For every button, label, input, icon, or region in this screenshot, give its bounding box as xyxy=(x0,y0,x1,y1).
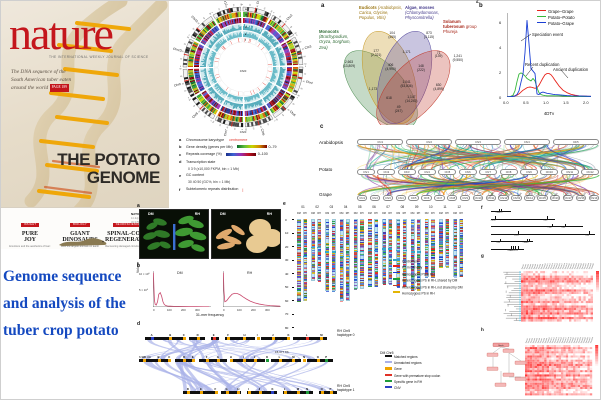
ideogram-marker xyxy=(297,301,300,302)
ideogram-marker xyxy=(368,257,371,258)
ideogram-marker xyxy=(460,271,463,272)
legend-scale: 0–79 xyxy=(269,145,277,149)
ideogram-marker xyxy=(304,253,307,254)
ideogram-marker xyxy=(397,283,400,284)
haplotype-legend-item: Matched regions xyxy=(385,355,418,359)
ideogram-chromosome-number: 04 xyxy=(340,205,352,209)
ideogram-tick-mark xyxy=(292,246,294,247)
kmer-y-tick: 5 × 10⁸ xyxy=(139,288,148,292)
haplotype-segment xyxy=(307,359,333,362)
svg-text:0: 0 xyxy=(273,120,275,122)
synteny-chromosome: Chr2 xyxy=(377,169,395,175)
centromere-marker xyxy=(403,250,407,251)
linkage-map-panel: f Chr08Chr02Chr03Chr04Chr05Chr06Chr07Chr… xyxy=(481,197,601,255)
ideogram-marker xyxy=(368,253,371,254)
ideogram-marker xyxy=(312,242,315,243)
svg-text:60: 60 xyxy=(264,7,267,10)
haplotype-gene-label: K xyxy=(266,355,268,359)
ideogram-marker xyxy=(360,224,363,225)
synteny-links xyxy=(317,123,601,205)
ideogram-marker xyxy=(375,257,378,258)
dtv-x-tick: 1.0 xyxy=(543,100,549,105)
ideogram-marker xyxy=(360,226,363,227)
ideogram-marker xyxy=(304,300,307,301)
ideogram-marker xyxy=(304,293,307,294)
ideogram-marker xyxy=(346,276,349,277)
synteny-chromosome: Chr1 xyxy=(357,139,403,145)
haplotype-gene-label: J xyxy=(259,387,261,391)
svg-text:Chr2: Chr2 xyxy=(286,13,294,21)
legend-label: CNV xyxy=(394,386,401,390)
ideogram-marker xyxy=(312,244,315,245)
haplotype-gene-label: D xyxy=(197,333,199,337)
ideogram-marker xyxy=(312,259,315,260)
ideogram-marker xyxy=(297,295,300,296)
kmer-x-tick: 300 xyxy=(195,308,200,312)
ideogram-tick-mark xyxy=(292,287,294,288)
ideogram-sub-label-rh: RH xyxy=(360,212,363,215)
ideogram-marker xyxy=(340,220,343,221)
ideogram-marker xyxy=(439,242,442,243)
svg-text:Chr5: Chr5 xyxy=(289,110,297,118)
centromere-marker xyxy=(453,245,457,246)
svg-text:60: 60 xyxy=(202,17,205,20)
ideogram-marker xyxy=(304,272,307,273)
ideogram-marker xyxy=(460,251,463,252)
ideogram-marker xyxy=(318,258,321,259)
svg-text:20: 20 xyxy=(192,28,195,31)
ideogram-marker xyxy=(454,270,457,271)
centromere-marker xyxy=(459,245,463,246)
legend-text: GC content xyxy=(186,173,204,177)
ideogram-marker xyxy=(318,273,321,274)
linkage-marker-label: Chr12 xyxy=(491,220,496,222)
ideogram-marker xyxy=(446,228,449,229)
ideogram-marker xyxy=(304,297,307,298)
ideogram-marker xyxy=(332,233,335,234)
linkage-marker xyxy=(501,209,502,212)
haplotype-gene xyxy=(321,391,324,394)
legend-key: c xyxy=(179,152,184,157)
svg-text:0: 0 xyxy=(180,66,181,68)
ideogram-marker xyxy=(411,249,414,250)
ideogram-marker xyxy=(297,228,300,229)
ideogram-marker xyxy=(403,247,406,248)
ideogram-marker xyxy=(354,243,357,244)
ideogram-marker xyxy=(297,260,300,261)
ideogram-marker xyxy=(368,231,371,232)
ideogram-marker xyxy=(318,276,321,277)
ideogram-marker xyxy=(346,232,349,233)
ideogram-marker xyxy=(403,230,406,231)
ideogram-marker xyxy=(446,222,449,223)
haplotype-gene-label: K xyxy=(271,387,273,391)
cover-headline-line1: THE POTATO xyxy=(40,151,160,169)
linkage-marker xyxy=(513,246,514,249)
legend-label: Specific gene in RH xyxy=(394,380,422,384)
synteny-chromosome: Chr3 xyxy=(398,169,416,175)
ideogram-marker xyxy=(425,229,428,230)
ideogram-marker xyxy=(368,223,371,224)
ideogram-marker xyxy=(318,278,321,279)
ideogram-marker xyxy=(411,250,414,251)
ideogram-marker xyxy=(354,272,357,273)
ideogram-marker xyxy=(297,222,300,223)
ideogram-marker xyxy=(297,257,300,258)
haplotype-gene-label: H xyxy=(230,355,232,359)
ideogram-marker xyxy=(368,228,371,229)
svg-text:20: 20 xyxy=(204,116,207,119)
svg-text:Chr4: Chr4 xyxy=(305,80,313,86)
ideogram-marker xyxy=(375,259,378,260)
haplotype-gene xyxy=(292,359,295,362)
haplotype-gene xyxy=(168,359,171,362)
ideogram-marker xyxy=(354,282,357,283)
ideogram-marker xyxy=(389,281,392,282)
ideogram-marker xyxy=(403,232,406,233)
ideogram-marker xyxy=(326,267,329,268)
ideogram-marker xyxy=(383,270,386,271)
ideogram-marker xyxy=(354,277,357,278)
ideogram-marker xyxy=(340,262,343,263)
ideogram-marker xyxy=(304,276,307,277)
synteny-chromosome: Chr6 xyxy=(459,169,477,175)
svg-text:0: 0 xyxy=(296,97,298,99)
haplotype-gene xyxy=(143,359,146,362)
ideogram-marker xyxy=(460,260,463,261)
ideogram-marker xyxy=(383,268,386,269)
ideogram-marker xyxy=(360,280,363,281)
haplotype-gene xyxy=(279,359,282,362)
ideogram-marker xyxy=(460,241,463,242)
ideogram-marker xyxy=(332,289,335,290)
ideogram-marker xyxy=(454,258,457,259)
ideogram-marker xyxy=(383,257,386,258)
venn-group-monocots: Monocots (Brachypodium, Oryza, Sorghum, … xyxy=(319,29,359,50)
ideogram-legend-item: Homozygous PS in RH xyxy=(393,291,435,296)
ideogram-marker xyxy=(346,238,349,239)
ideogram-legend-item: PS in DM only xyxy=(393,265,422,270)
ideogram-marker xyxy=(297,293,300,294)
legend-text: Transcription state xyxy=(186,160,215,164)
ideogram-marker xyxy=(297,277,300,278)
linkage-marker xyxy=(565,224,566,227)
circos-legend: a Chromosome karyotype centromere b Gene… xyxy=(179,137,313,194)
ideogram-marker xyxy=(360,261,363,262)
ideogram-marker xyxy=(389,278,392,279)
ideogram-marker xyxy=(304,252,307,253)
ideogram-marker xyxy=(417,255,420,256)
ideogram-marker xyxy=(318,233,321,234)
ideogram-marker xyxy=(354,258,357,259)
ideogram-marker xyxy=(389,229,392,230)
ideogram-marker xyxy=(368,268,371,269)
ideogram-marker xyxy=(318,255,321,256)
ideogram-marker xyxy=(346,283,349,284)
ideogram-marker xyxy=(383,236,386,237)
ideogram-marker xyxy=(439,235,442,236)
ideogram-marker xyxy=(340,230,343,231)
photo-label-rh: RH xyxy=(195,212,200,216)
ideogram-marker xyxy=(304,280,307,281)
haplotype-gene-label: F xyxy=(215,387,217,391)
ideogram-marker xyxy=(326,271,329,272)
legend-label: Centromere xyxy=(402,260,419,264)
venn-count: 104(455) xyxy=(388,32,396,40)
ideogram-marker xyxy=(340,239,343,240)
legend-key: b xyxy=(179,144,184,149)
ideogram-marker xyxy=(431,269,434,270)
ideogram-marker xyxy=(340,295,343,296)
ideogram-marker xyxy=(312,267,315,268)
ideogram-y-tick: 20 xyxy=(285,245,288,249)
ideogram-marker xyxy=(375,254,378,255)
annotation-speciation-event: Speciation event xyxy=(532,32,563,37)
ideogram-marker xyxy=(346,252,349,253)
haplotype-gene xyxy=(243,359,246,362)
ideogram-marker xyxy=(332,249,335,250)
legend-label: Gene xyxy=(394,368,402,372)
ideogram-marker xyxy=(383,241,386,242)
ideogram-marker xyxy=(340,244,343,245)
haplotype-gene xyxy=(271,391,274,394)
haplotype-gene-label: D xyxy=(187,387,189,391)
ideogram-marker xyxy=(375,263,378,264)
ideogram-marker xyxy=(354,242,357,243)
legend-swatch-icon xyxy=(385,355,392,357)
venn-count: 2,663(13,809) xyxy=(343,62,355,70)
ideogram-marker xyxy=(360,230,363,231)
ideogram-marker xyxy=(326,280,329,281)
ideogram-marker xyxy=(318,243,321,244)
haplotype-gene-label: B xyxy=(158,355,160,359)
ideogram-marker xyxy=(304,246,307,247)
legend-row-d: d Transcription state xyxy=(179,159,313,164)
ideogram-marker xyxy=(403,224,406,225)
kmer-x-tick: 200 xyxy=(181,308,186,312)
linkage-marker xyxy=(495,216,496,219)
haplotype-gene xyxy=(183,359,186,362)
ideogram-marker xyxy=(297,289,300,290)
haplotype-gene xyxy=(227,337,230,340)
ideogram-marker xyxy=(454,221,457,222)
ideogram-marker xyxy=(326,275,329,276)
ideogram-marker xyxy=(346,291,349,292)
haplotype-gene xyxy=(197,337,200,340)
ideogram-marker xyxy=(460,255,463,256)
ideogram-marker xyxy=(332,271,335,272)
ideogram-marker xyxy=(318,235,321,236)
plant-photo-panel: a DM RH xyxy=(137,203,283,261)
ideogram-marker xyxy=(340,221,343,222)
ideogram-marker xyxy=(340,226,343,227)
photo-label-rh: RH xyxy=(267,212,272,216)
legend-text: Chromosome karyotype xyxy=(186,138,224,142)
haplotype-gene xyxy=(217,359,220,362)
haplotype-legend-item: CNV xyxy=(385,386,401,390)
ideogram-marker xyxy=(397,254,400,255)
ideogram-marker xyxy=(397,229,400,230)
ideogram-y-tick: 0 xyxy=(285,218,287,222)
ideogram-marker xyxy=(297,263,300,264)
haplotype-gene-label: O xyxy=(321,387,323,391)
ideogram-sub-label-dm: DM xyxy=(396,212,400,215)
ideogram-marker xyxy=(397,240,400,241)
synteny-chromosome: Chr3 xyxy=(455,139,501,145)
ideogram-marker xyxy=(354,253,357,254)
legend-text: Repeats coverage (%) xyxy=(186,152,222,156)
ideogram-marker xyxy=(297,248,300,249)
ideogram-sub-label-dm: DM xyxy=(425,212,429,215)
ideogram-marker xyxy=(375,235,378,236)
ideogram-sub-label-rh: RH xyxy=(388,212,391,215)
venn-count: 1,041(53,836) xyxy=(400,81,412,89)
haplotype-gene xyxy=(284,391,287,394)
ideogram-marker xyxy=(383,232,386,233)
ideogram-marker xyxy=(454,232,457,233)
ideogram-marker xyxy=(389,222,392,223)
ideogram-marker xyxy=(360,275,363,276)
ideogram-chromosome-number: 03 xyxy=(325,205,337,209)
ideogram-y-tick: 60 xyxy=(285,299,288,303)
haplotype-comparison-panel: d ABCDEFHIJKLMABCDEFGHIJKLMNOPDEFGHIJKLM… xyxy=(137,321,437,401)
haplotype-gene-label: I xyxy=(248,387,249,391)
ideogram-marker xyxy=(375,277,378,278)
ideogram-marker xyxy=(460,269,463,270)
kmer-x-tick: 0 xyxy=(153,308,155,312)
svg-text:Chr0: Chr0 xyxy=(240,69,247,73)
ideogram-marker xyxy=(304,264,307,265)
ideogram-sub-label-dm: DM xyxy=(354,212,358,215)
ideogram-marker xyxy=(346,225,349,226)
synteny-chromosome: Chr12 xyxy=(581,169,599,175)
haplotype-gene-label: P xyxy=(325,355,327,359)
ideogram-legend-item: Homozygous PS in RH xyxy=(393,272,435,277)
ideogram-marker xyxy=(340,245,343,246)
venn-count: 49(247) xyxy=(395,106,403,114)
ideogram-marker xyxy=(368,260,371,261)
haplotype-gene-label: C xyxy=(183,333,185,337)
haplotype-gene-label: O xyxy=(317,355,319,359)
ideogram-chromosome-number: 07 xyxy=(382,205,394,209)
ideogram-sub-label-dm: DM xyxy=(382,212,386,215)
ideogram-marker xyxy=(389,252,392,253)
svg-text:80: 80 xyxy=(186,36,189,39)
ideogram-marker xyxy=(368,284,371,285)
ideogram-marker xyxy=(417,235,420,236)
venn-count: 148(222) xyxy=(417,65,425,73)
ideogram-marker xyxy=(297,298,300,299)
ideogram-marker xyxy=(318,239,321,240)
ideogram-marker xyxy=(340,301,343,302)
ideogram-marker xyxy=(297,226,300,227)
ideogram-marker xyxy=(312,270,315,271)
ideogram-marker xyxy=(297,239,300,240)
ideogram-marker xyxy=(340,235,343,236)
legend-row-e: e GC content xyxy=(179,173,313,178)
haplotype-gene-label: E xyxy=(200,387,202,391)
ideogram-marker xyxy=(454,277,457,278)
ideogram-marker xyxy=(411,226,414,227)
ideogram-marker xyxy=(431,240,434,241)
ideogram-tick-mark xyxy=(292,233,294,234)
ideogram-marker xyxy=(326,244,329,245)
ideogram-marker xyxy=(360,268,363,269)
teaser-tag: BIOLOGY xyxy=(70,223,90,227)
legend-row-a: a Chromosome karyotype centromere xyxy=(179,137,313,142)
heatmap2-svg: Tissue1Tissue2Tissue3Tissue4Tissue5Tissu… xyxy=(481,327,601,401)
ideogram-marker xyxy=(297,230,300,231)
ideogram-marker xyxy=(318,224,321,225)
ideogram-marker xyxy=(297,290,300,291)
annotation-ancient-duplication: Ancient duplication xyxy=(553,67,588,72)
ideogram-marker xyxy=(446,232,449,233)
synteny-chromosome: Chr5 xyxy=(438,169,456,175)
haplotype-gene-label: N xyxy=(306,387,308,391)
ideogram-marker xyxy=(297,262,300,263)
dtv-x-tick: 2.0 xyxy=(583,100,589,105)
ideogram-marker xyxy=(446,267,449,268)
ideogram-marker xyxy=(431,258,434,259)
ideogram-marker xyxy=(375,232,378,233)
ideogram-marker xyxy=(360,235,363,236)
ideogram-marker xyxy=(304,235,307,236)
ideogram-marker xyxy=(375,267,378,268)
ideogram-marker xyxy=(389,234,392,235)
ideogram-marker xyxy=(397,232,400,233)
ideogram-sub-label-dm: DM xyxy=(411,212,415,215)
ideogram-sub-label-rh: RH xyxy=(459,212,462,215)
kmer-x-tick: 0 xyxy=(223,308,225,312)
dtv-x-axis-label: 4DTv xyxy=(507,111,591,116)
ideogram-marker xyxy=(439,248,442,249)
ideogram-marker xyxy=(312,257,315,258)
ideogram-marker xyxy=(326,285,329,286)
ideogram-marker xyxy=(411,253,414,254)
ideogram-marker xyxy=(403,255,406,256)
synteny-chromosome: Chr7 xyxy=(479,169,497,175)
ideogram-marker xyxy=(360,255,363,256)
linkage-marker xyxy=(518,246,519,249)
potato-plants-illustration xyxy=(140,210,209,259)
centromere-marker xyxy=(346,256,350,257)
ideogram-marker xyxy=(403,240,406,241)
centromere-marker xyxy=(439,241,443,242)
ideogram-marker xyxy=(425,263,428,264)
centromere-marker xyxy=(388,248,392,249)
svg-text:60: 60 xyxy=(232,4,234,6)
haplotype-gene-label: G xyxy=(226,387,228,391)
svg-text:20: 20 xyxy=(266,123,269,126)
ideogram-marker xyxy=(460,228,463,229)
ideogram-marker xyxy=(446,246,449,247)
haplotype-legend-item: Specific gene in RH xyxy=(385,380,422,384)
svg-text:20: 20 xyxy=(249,4,251,6)
ideogram-marker xyxy=(368,226,371,227)
ideogram-legend-item: Heterozygous PS in RH, shared by DM xyxy=(393,278,457,283)
ideogram-marker xyxy=(297,226,300,227)
haplotype-segment xyxy=(233,359,265,362)
haplotype-gene-label: G xyxy=(217,355,219,359)
ideogram-marker xyxy=(417,245,420,246)
ideogram-marker xyxy=(403,241,406,242)
dtv-legend-item-potato-grape: Potato–Grape xyxy=(537,21,574,26)
ideogram-marker xyxy=(439,247,442,248)
ideogram-marker xyxy=(340,229,343,230)
ideogram-marker xyxy=(411,247,414,248)
ideogram-marker xyxy=(460,262,463,263)
ideogram-marker xyxy=(383,260,386,261)
